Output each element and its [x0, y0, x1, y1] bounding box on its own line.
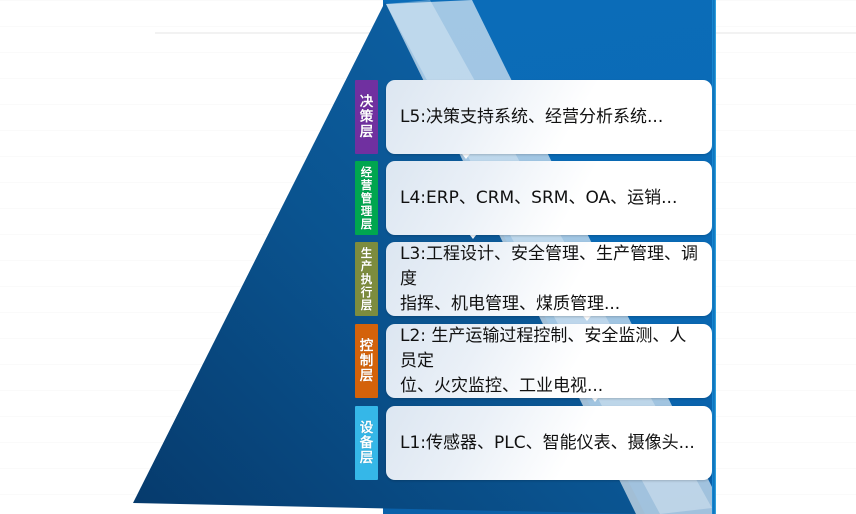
level-card-l1[interactable]: L1:传感器、PLC、智能仪表、摄像头... [386, 406, 712, 480]
level-card-l4[interactable]: L4:ERP、CRM、SRM、OA、运销... [386, 161, 712, 235]
pyramid-levels: 决 策 层 L5:决策支持系统、经营分析系统... 经 营 管 理 层 L4:E… [0, 0, 856, 514]
level-tab-char: 执 [361, 273, 373, 286]
level-tab-char: 营 [361, 179, 373, 192]
level-card-line: 指挥、机电管理、煤质管理... [400, 292, 698, 317]
level-tab-char: 经 [361, 166, 373, 179]
level-tab-char: 控 [360, 339, 374, 354]
level-tab-char: 生 [361, 247, 373, 260]
level-tab-l5[interactable]: 决 策 层 [355, 80, 378, 154]
level-card-text-l5: L5:决策支持系统、经营分析系统... [400, 105, 663, 130]
level-row-l5[interactable]: 决 策 层 L5:决策支持系统、经营分析系统... [355, 80, 712, 154]
level-tab-l1[interactable]: 设 备 层 [355, 406, 378, 480]
level-card-text-l4: L4:ERP、CRM、SRM、OA、运销... [400, 186, 677, 211]
level-tab-char: 备 [360, 436, 374, 451]
level-card-l2[interactable]: L2: 生产运输过程控制、安全监测、人员定 位、火灾监控、工业电视... [386, 324, 712, 398]
level-tab-char: 层 [361, 299, 373, 312]
level-card-l5[interactable]: L5:决策支持系统、经营分析系统... [386, 80, 712, 154]
level-tab-char: 产 [361, 260, 373, 273]
level-tab-char: 管 [361, 192, 373, 205]
level-row-l3[interactable]: 生 产 执 行 层 L3:工程设计、安全管理、生产管理、调度 指挥、机电管理、煤… [355, 242, 712, 316]
level-card-line: 位、火灾监控、工业电视... [400, 374, 698, 399]
level-tab-char: 设 [360, 421, 374, 436]
level-row-l1[interactable]: 设 备 层 L1:传感器、PLC、智能仪表、摄像头... [355, 406, 712, 480]
level-tab-l2[interactable]: 控 制 层 [355, 324, 378, 398]
level-row-l2[interactable]: 控 制 层 L2: 生产运输过程控制、安全监测、人员定 位、火灾监控、工业电视.… [355, 324, 712, 398]
diagram-canvas: 决 策 层 L5:决策支持系统、经营分析系统... 经 营 管 理 层 L4:E… [0, 0, 856, 514]
level-tab-char: 理 [361, 205, 373, 218]
level-tab-char: 层 [360, 369, 374, 384]
level-tab-char: 制 [360, 354, 374, 369]
level-tab-char: 决 [360, 95, 374, 110]
level-card-line: L2: 生产运输过程控制、安全监测、人员定 [400, 324, 698, 374]
level-tab-char: 层 [361, 218, 373, 231]
level-tab-l4[interactable]: 经 营 管 理 层 [355, 161, 378, 235]
level-tab-char: 策 [360, 110, 374, 125]
level-tab-l3[interactable]: 生 产 执 行 层 [355, 242, 378, 316]
level-card-text-l2: L2: 生产运输过程控制、安全监测、人员定 位、火灾监控、工业电视... [400, 324, 698, 399]
level-row-l4[interactable]: 经 营 管 理 层 L4:ERP、CRM、SRM、OA、运销... [355, 161, 712, 235]
level-card-text-l3: L3:工程设计、安全管理、生产管理、调度 指挥、机电管理、煤质管理... [400, 242, 698, 317]
level-card-text-l1: L1:传感器、PLC、智能仪表、摄像头... [400, 431, 695, 456]
level-tab-char: 层 [360, 125, 374, 140]
level-card-line: L3:工程设计、安全管理、生产管理、调度 [400, 242, 698, 292]
level-card-l3[interactable]: L3:工程设计、安全管理、生产管理、调度 指挥、机电管理、煤质管理... [386, 242, 712, 316]
level-tab-char: 行 [361, 286, 373, 299]
level-tab-char: 层 [360, 451, 374, 466]
